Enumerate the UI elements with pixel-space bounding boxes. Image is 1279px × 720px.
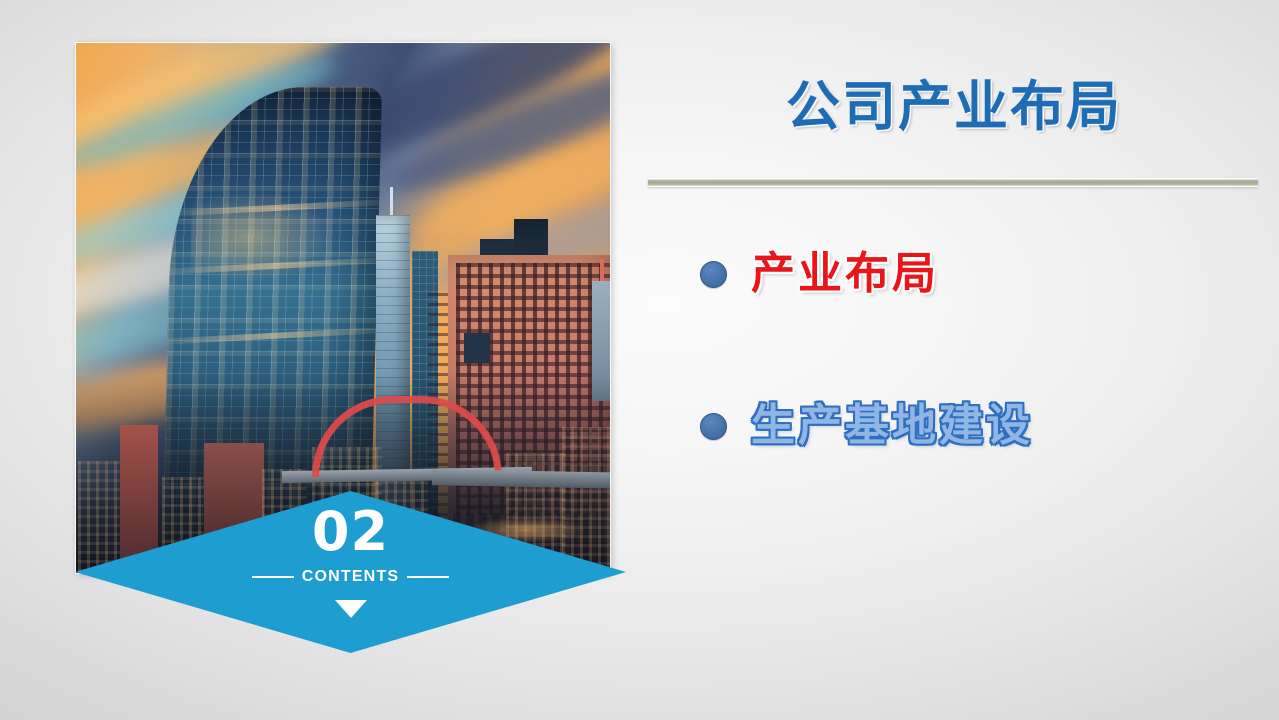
bullet-circle-icon <box>700 413 727 440</box>
list-item[interactable]: 产业布局 <box>700 236 1240 312</box>
city-block <box>562 427 610 573</box>
bullet-circle-icon <box>700 261 727 288</box>
page-title: 公司产业布局 <box>649 76 1259 138</box>
bullet-list: 产业布局 生产基地建设 <box>700 236 1240 464</box>
presentation-slide: 02 CONTENTS 公司产业布局 产业布局 生产基地建设 <box>0 0 1279 720</box>
bullet-label: 产业布局 <box>751 250 939 298</box>
bullet-label: 生产基地建设 <box>751 402 1033 450</box>
facade-notch <box>464 333 490 363</box>
list-item[interactable]: 生产基地建设 <box>700 388 1240 464</box>
title-divider <box>648 178 1258 187</box>
